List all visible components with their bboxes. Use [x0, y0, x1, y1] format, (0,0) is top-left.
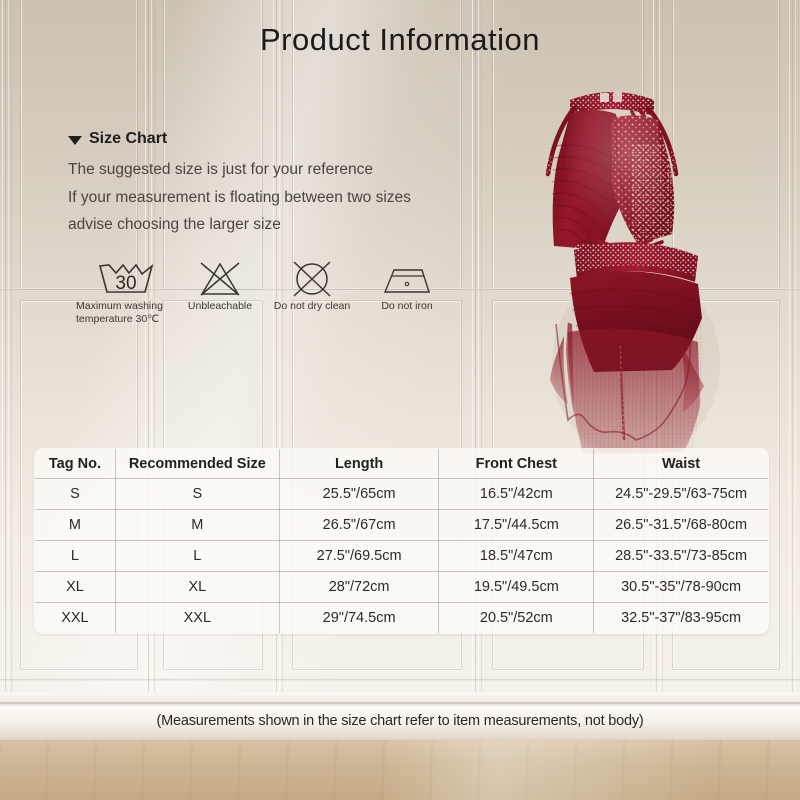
cell-tag-no: L: [35, 541, 116, 572]
care-instructions-row: 30 Maximum washing temperature 30℃ Unble…: [74, 258, 452, 327]
care-label: Do not dry clean: [274, 300, 350, 313]
care-label: Do not iron: [381, 300, 432, 313]
column-header-length: Length: [279, 449, 439, 479]
cell-waist: 32.5"-37"/83-95cm: [594, 603, 769, 634]
cell-recommended-size: L: [115, 541, 279, 572]
care-item-no-iron: Do not iron: [362, 258, 452, 313]
care-item-unbleachable: Unbleachable: [178, 258, 262, 313]
cell-tag-no: XL: [35, 572, 116, 603]
product-image-dress: [512, 74, 752, 454]
no-bleach-triangle-icon: [197, 258, 243, 300]
cell-waist: 26.5"-31.5"/68-80cm: [594, 510, 769, 541]
column-header-front-chest: Front Chest: [439, 449, 594, 479]
svg-text:30: 30: [115, 273, 136, 294]
cell-tag-no: XXL: [35, 603, 116, 634]
cell-recommended-size: M: [115, 510, 279, 541]
cell-front-chest: 19.5"/49.5cm: [439, 572, 594, 603]
cell-waist: 30.5"-35"/78-90cm: [594, 572, 769, 603]
table-row: M M 26.5"/67cm 17.5"/44.5cm 26.5"-31.5"/…: [35, 510, 769, 541]
table-row: L L 27.5"/69.5cm 18.5"/47cm 28.5"-33.5"/…: [35, 541, 769, 572]
cell-length: 28"/72cm: [279, 572, 439, 603]
cell-recommended-size: S: [115, 479, 279, 510]
no-dry-clean-circle-icon: [289, 258, 335, 300]
wall-rail: [0, 678, 800, 681]
cell-tag-no: S: [35, 479, 116, 510]
wash-tub-30-icon: 30: [95, 258, 157, 300]
size-chart-note-line: The suggested size is just for your refe…: [68, 156, 488, 184]
table-row: XL XL 28"/72cm 19.5"/49.5cm 30.5"-35"/78…: [35, 572, 769, 603]
size-chart-section: Size Chart The suggested size is just fo…: [68, 130, 488, 239]
size-chart-table-container: Tag No. Recommended Size Length Front Ch…: [34, 448, 769, 634]
cell-waist: 24.5"-29.5"/63-75cm: [594, 479, 769, 510]
size-chart-label: Size Chart: [89, 130, 167, 148]
cell-front-chest: 18.5"/47cm: [439, 541, 594, 572]
cell-recommended-size: XL: [115, 572, 279, 603]
size-chart-note-line: advise choosing the larger size: [68, 211, 488, 239]
column-header-recommended-size: Recommended Size: [115, 449, 279, 479]
cell-front-chest: 20.5"/52cm: [439, 603, 594, 634]
care-label: Maximum washing temperature 30℃: [76, 300, 176, 327]
size-chart-table: Tag No. Recommended Size Length Front Ch…: [34, 448, 769, 634]
cell-tag-no: M: [35, 510, 116, 541]
cell-front-chest: 17.5"/44.5cm: [439, 510, 594, 541]
cell-length: 25.5"/65cm: [279, 479, 439, 510]
cell-recommended-size: XXL: [115, 603, 279, 634]
wooden-floor: [0, 740, 800, 800]
cell-length: 26.5"/67cm: [279, 510, 439, 541]
cell-length: 27.5"/69.5cm: [279, 541, 439, 572]
caret-down-icon: [68, 136, 82, 145]
size-chart-heading[interactable]: Size Chart: [68, 130, 488, 148]
product-information-page: Product Information Size Chart The sugge…: [0, 0, 800, 800]
table-row: S S 25.5"/65cm 16.5"/42cm 24.5"-29.5"/63…: [35, 479, 769, 510]
cell-waist: 28.5"-33.5"/73-85cm: [594, 541, 769, 572]
care-item-no-dry-clean: Do not dry clean: [262, 258, 362, 313]
cell-front-chest: 16.5"/42cm: [439, 479, 594, 510]
table-row: XXL XXL 29"/74.5cm 20.5"/52cm 32.5"-37"/…: [35, 603, 769, 634]
care-label: Unbleachable: [188, 300, 252, 313]
measurement-disclaimer: (Measurements shown in the size chart re…: [0, 713, 800, 729]
table-header-row: Tag No. Recommended Size Length Front Ch…: [35, 449, 769, 479]
column-header-waist: Waist: [594, 449, 769, 479]
page-title: Product Information: [0, 22, 800, 58]
care-item-max-wash-temp: 30 Maximum washing temperature 30℃: [74, 258, 178, 327]
cell-length: 29"/74.5cm: [279, 603, 439, 634]
column-header-tag-no: Tag No.: [35, 449, 116, 479]
size-chart-note-line: If your measurement is floating between …: [68, 184, 488, 212]
no-iron-icon: [379, 258, 435, 300]
